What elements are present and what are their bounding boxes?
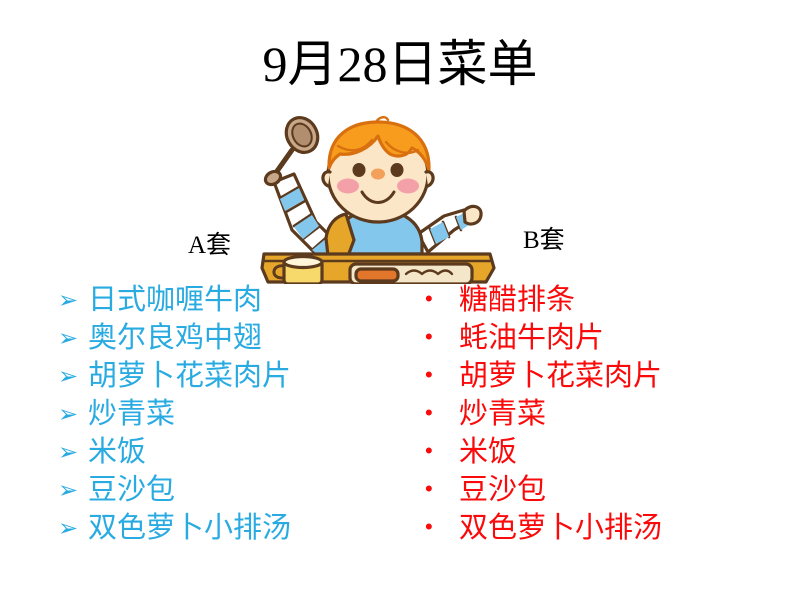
menu-item: ➢ 胡萝卜花菜肉片 xyxy=(58,357,388,395)
menu-item-label: 胡萝卜花菜肉片 xyxy=(88,357,291,395)
disc-bullet-icon: • xyxy=(425,394,459,432)
menu-item: • 胡萝卜花菜肉片 xyxy=(425,357,765,395)
menu-item-label: 胡萝卜花菜肉片 xyxy=(459,357,662,395)
arrow-bullet-icon: ➢ xyxy=(58,320,88,358)
arrow-bullet-icon: ➢ xyxy=(58,396,88,434)
menu-item-label: 炒青菜 xyxy=(88,395,175,433)
menu-item: • 双色萝卜小排汤 xyxy=(425,509,765,547)
menu-item-label: 炒青菜 xyxy=(459,395,546,433)
menu-item: • 蚝油牛肉片 xyxy=(425,319,765,357)
arrow-bullet-icon: ➢ xyxy=(58,510,88,548)
disc-bullet-icon: • xyxy=(425,280,459,318)
menu-item: • 豆沙包 xyxy=(425,471,765,509)
disc-bullet-icon: • xyxy=(425,318,459,356)
menu-item: ➢ 米饭 xyxy=(58,433,388,471)
menu-item: ➢ 日式咖喱牛肉 xyxy=(58,281,388,319)
menu-item-label: 米饭 xyxy=(88,433,146,471)
boy-eating-illustration xyxy=(258,112,498,284)
set-b-header: B套 xyxy=(523,226,565,256)
menu-list-set-b: • 糖醋排条 • 蚝油牛肉片 • 胡萝卜花菜肉片 • 炒青菜 • 米饭 • 豆沙… xyxy=(425,281,765,547)
page-title: 9月28日菜单 xyxy=(0,34,800,94)
head xyxy=(323,117,433,222)
menu-item: • 炒青菜 xyxy=(425,395,765,433)
disc-bullet-icon: • xyxy=(425,470,459,508)
menu-item-label: 糖醋排条 xyxy=(459,281,575,319)
arrow-bullet-icon: ➢ xyxy=(58,358,88,396)
menu-item: • 糖醋排条 xyxy=(425,281,765,319)
disc-bullet-icon: • xyxy=(425,508,459,546)
arrow-bullet-icon: ➢ xyxy=(58,434,88,472)
menu-list-set-a: ➢ 日式咖喱牛肉 ➢ 奥尔良鸡中翅 ➢ 胡萝卜花菜肉片 ➢ 炒青菜 ➢ 米饭 ➢… xyxy=(58,281,388,547)
menu-item: • 米饭 xyxy=(425,433,765,471)
arrow-bullet-icon: ➢ xyxy=(58,282,88,320)
menu-item: ➢ 豆沙包 xyxy=(58,471,388,509)
menu-item-label: 豆沙包 xyxy=(88,471,175,509)
menu-item-label: 米饭 xyxy=(459,433,517,471)
menu-item-label: 豆沙包 xyxy=(459,471,546,509)
menu-item: ➢ 炒青菜 xyxy=(58,395,388,433)
set-a-header: A套 xyxy=(188,231,231,261)
menu-item: ➢ 双色萝卜小排汤 xyxy=(58,509,388,547)
menu-item-label: 双色萝卜小排汤 xyxy=(459,509,662,547)
menu-item-label: 蚝油牛肉片 xyxy=(459,319,604,357)
menu-item-label: 双色萝卜小排汤 xyxy=(88,509,291,547)
disc-bullet-icon: • xyxy=(425,432,459,470)
menu-item-label: 奥尔良鸡中翅 xyxy=(88,319,262,357)
arrow-bullet-icon: ➢ xyxy=(58,472,88,510)
menu-item-label: 日式咖喱牛肉 xyxy=(88,281,262,319)
disc-bullet-icon: • xyxy=(425,356,459,394)
right-arm xyxy=(418,206,481,252)
menu-item: ➢ 奥尔良鸡中翅 xyxy=(58,319,388,357)
